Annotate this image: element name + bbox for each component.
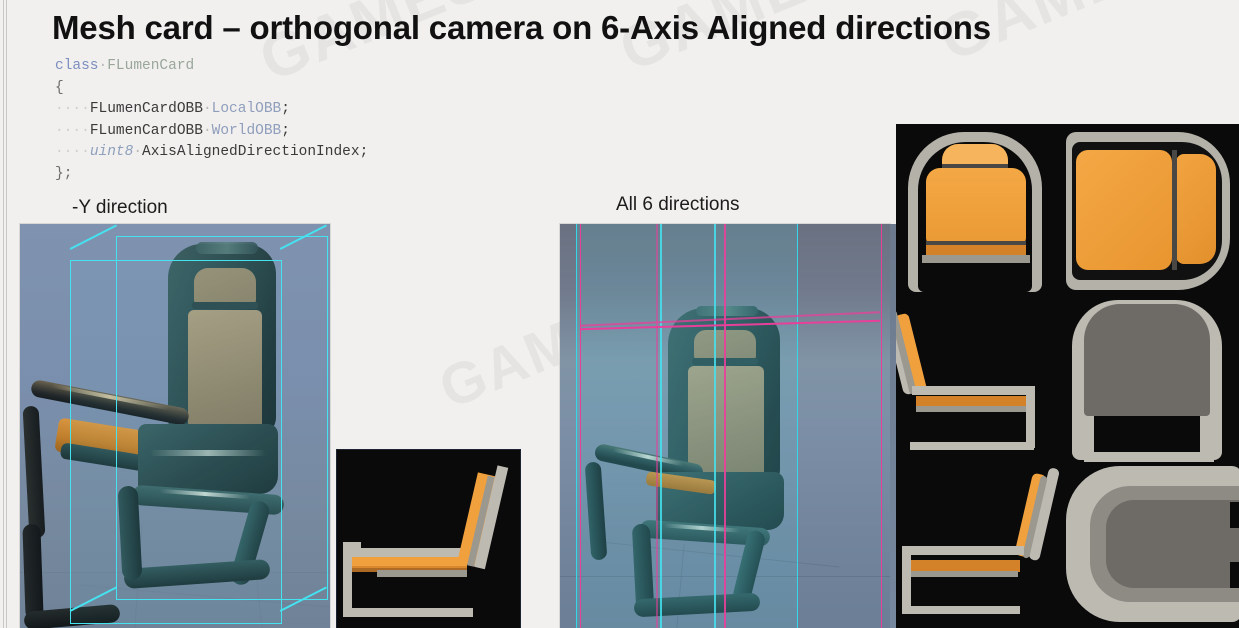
code-token: FLumenCardOBB — [90, 101, 203, 117]
card-right-notch-2 — [1230, 562, 1239, 588]
code-token: ···· — [55, 144, 90, 160]
code-token: · — [99, 58, 108, 74]
code-token: · — [203, 101, 212, 117]
card-preview-thumbnail[interactable] — [337, 450, 520, 628]
card-cell-top[interactable] — [1062, 124, 1239, 296]
code-token: ···· — [55, 123, 90, 139]
card-cell-front[interactable] — [896, 124, 1060, 296]
bounding-box-back-face — [116, 236, 328, 600]
code-token: ; — [281, 123, 290, 139]
code-line: ····uint8·AxisAlignedDirectionIndex; — [55, 142, 368, 164]
code-line: ····FLumenCardOBB·LocalOBB; — [55, 99, 368, 121]
slide-title: Mesh card – orthogonal camera on 6-Axis … — [52, 6, 1172, 50]
code-token: FLumenCardOBB — [90, 123, 203, 139]
thumb-frame-left — [343, 542, 352, 614]
code-token: ···· — [55, 101, 90, 117]
card-pad-gap — [1172, 150, 1177, 270]
bounding-box-magenta-edge — [656, 224, 658, 628]
code-token: class — [55, 58, 99, 74]
code-token: AxisAlignedDirectionIndex — [142, 144, 360, 160]
code-token: ; — [281, 101, 290, 117]
card-frame-bottom — [902, 606, 1020, 614]
slide-left-rule-outer — [3, 0, 4, 628]
thumb-seat-underside — [377, 570, 467, 577]
card-backrest — [1084, 304, 1210, 416]
card-base-bar — [1084, 452, 1214, 462]
card-right-notch — [1230, 502, 1239, 528]
viewport-all-6-directions[interactable] — [560, 224, 890, 628]
card-atlas-panel[interactable] — [896, 124, 1239, 628]
card-backrest — [926, 168, 1026, 244]
code-token: · — [203, 123, 212, 139]
card-headrest — [942, 144, 1008, 166]
card-lower-cut — [1094, 416, 1200, 452]
card-seat-under — [916, 406, 1034, 412]
card-cell-side-left[interactable] — [896, 298, 1060, 464]
slide-canvas: GAMES GAMES GAMES GAMES Mesh card – orth… — [0, 0, 1239, 628]
chair-front-leg — [22, 524, 43, 621]
code-block: class·FLumenCard{····FLumenCardOBB·Local… — [55, 56, 368, 185]
card-cell-back[interactable] — [1062, 298, 1239, 464]
code-line: }; — [55, 164, 368, 186]
code-line: class·FLumenCard — [55, 56, 368, 78]
bounding-box-magenta-front — [580, 224, 882, 628]
card-cell-side-right[interactable] — [896, 466, 1060, 628]
viewport-minus-y-direction[interactable] — [20, 224, 330, 628]
thumb-frame-bottom — [343, 608, 473, 617]
code-token: ; — [360, 144, 369, 160]
code-token: { — [55, 80, 64, 96]
code-token: · — [133, 144, 142, 160]
code-token: uint8 — [90, 144, 134, 160]
card-frame-left — [902, 546, 911, 614]
card-backrest-pad — [1176, 154, 1216, 264]
code-line: { — [55, 78, 368, 100]
code-token: LocalOBB — [212, 101, 282, 117]
slide-left-rule-inner — [6, 0, 7, 628]
card-seat-pad — [1076, 150, 1172, 270]
card-seat-outline — [906, 546, 1024, 555]
code-line: ····FLumenCardOBB·WorldOBB; — [55, 121, 368, 143]
card-frame-bottom — [910, 442, 1034, 450]
thumb-seat-outline — [347, 548, 469, 557]
code-token: }; — [55, 166, 72, 182]
chair-armrest-support — [23, 406, 46, 539]
code-token: WorldOBB — [212, 123, 282, 139]
bounding-box-edge — [70, 224, 117, 249]
code-token: FLumenCard — [107, 58, 194, 74]
card-cell-bottom[interactable] — [1062, 466, 1239, 628]
bounding-box-magenta-edge — [724, 224, 726, 628]
card-seat-outline — [912, 386, 1034, 395]
card-frame-right — [1026, 386, 1035, 448]
card-inner-face — [1106, 500, 1239, 588]
caption-right-viewport: All 6 directions — [616, 194, 740, 216]
card-seat-under — [908, 571, 1018, 577]
card-seat-edge — [922, 255, 1030, 263]
caption-left-viewport: -Y direction — [72, 197, 168, 219]
